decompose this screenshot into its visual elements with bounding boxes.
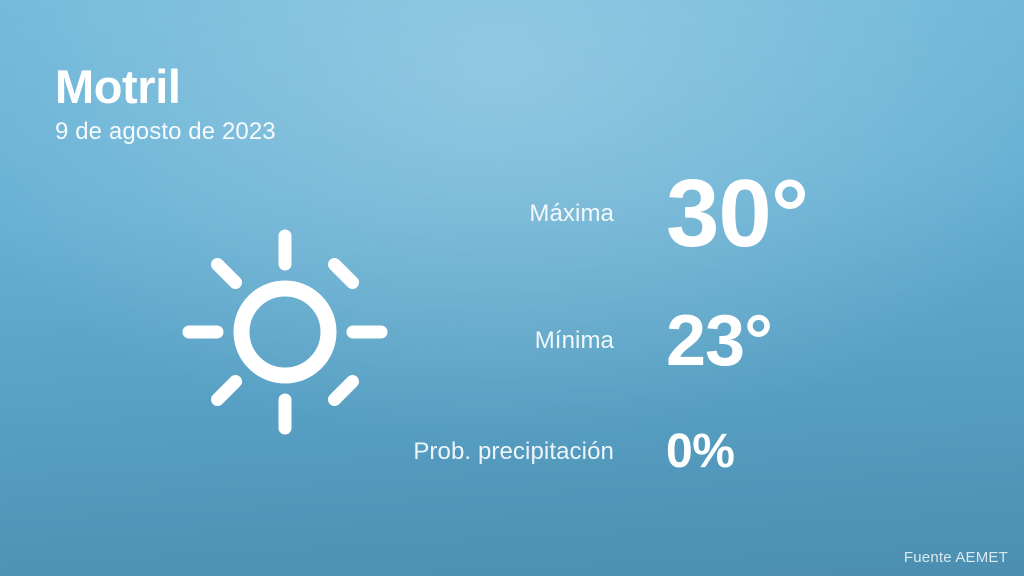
reading-value-precipitacion: 0% — [666, 428, 734, 476]
reading-row-minima: Mínima 23° — [400, 278, 980, 404]
reading-row-precipitacion: Prob. precipitación 0% — [400, 404, 980, 500]
readings-list: Máxima 30° Mínima 23° Prob. precipitació… — [400, 150, 980, 500]
location-header: Motril 9 de agosto de 2023 — [55, 62, 276, 145]
source-attribution: Fuente AEMET — [904, 549, 1008, 566]
reading-label-maxima: Máxima — [400, 200, 666, 228]
sun-icon-graphic — [175, 222, 395, 442]
reading-value-maxima: 30° — [666, 166, 808, 262]
weather-card: Motril 9 de agosto de 2023 Máxima — [0, 0, 1024, 576]
forecast-date: 9 de agosto de 2023 — [55, 119, 276, 145]
reading-row-maxima: Máxima 30° — [400, 150, 980, 278]
sun-icon — [175, 222, 395, 442]
reading-label-minima: Mínima — [400, 327, 666, 355]
reading-value-minima: 23° — [666, 305, 772, 377]
reading-label-precipitacion: Prob. precipitación — [400, 438, 666, 466]
city-name: Motril — [55, 62, 276, 112]
